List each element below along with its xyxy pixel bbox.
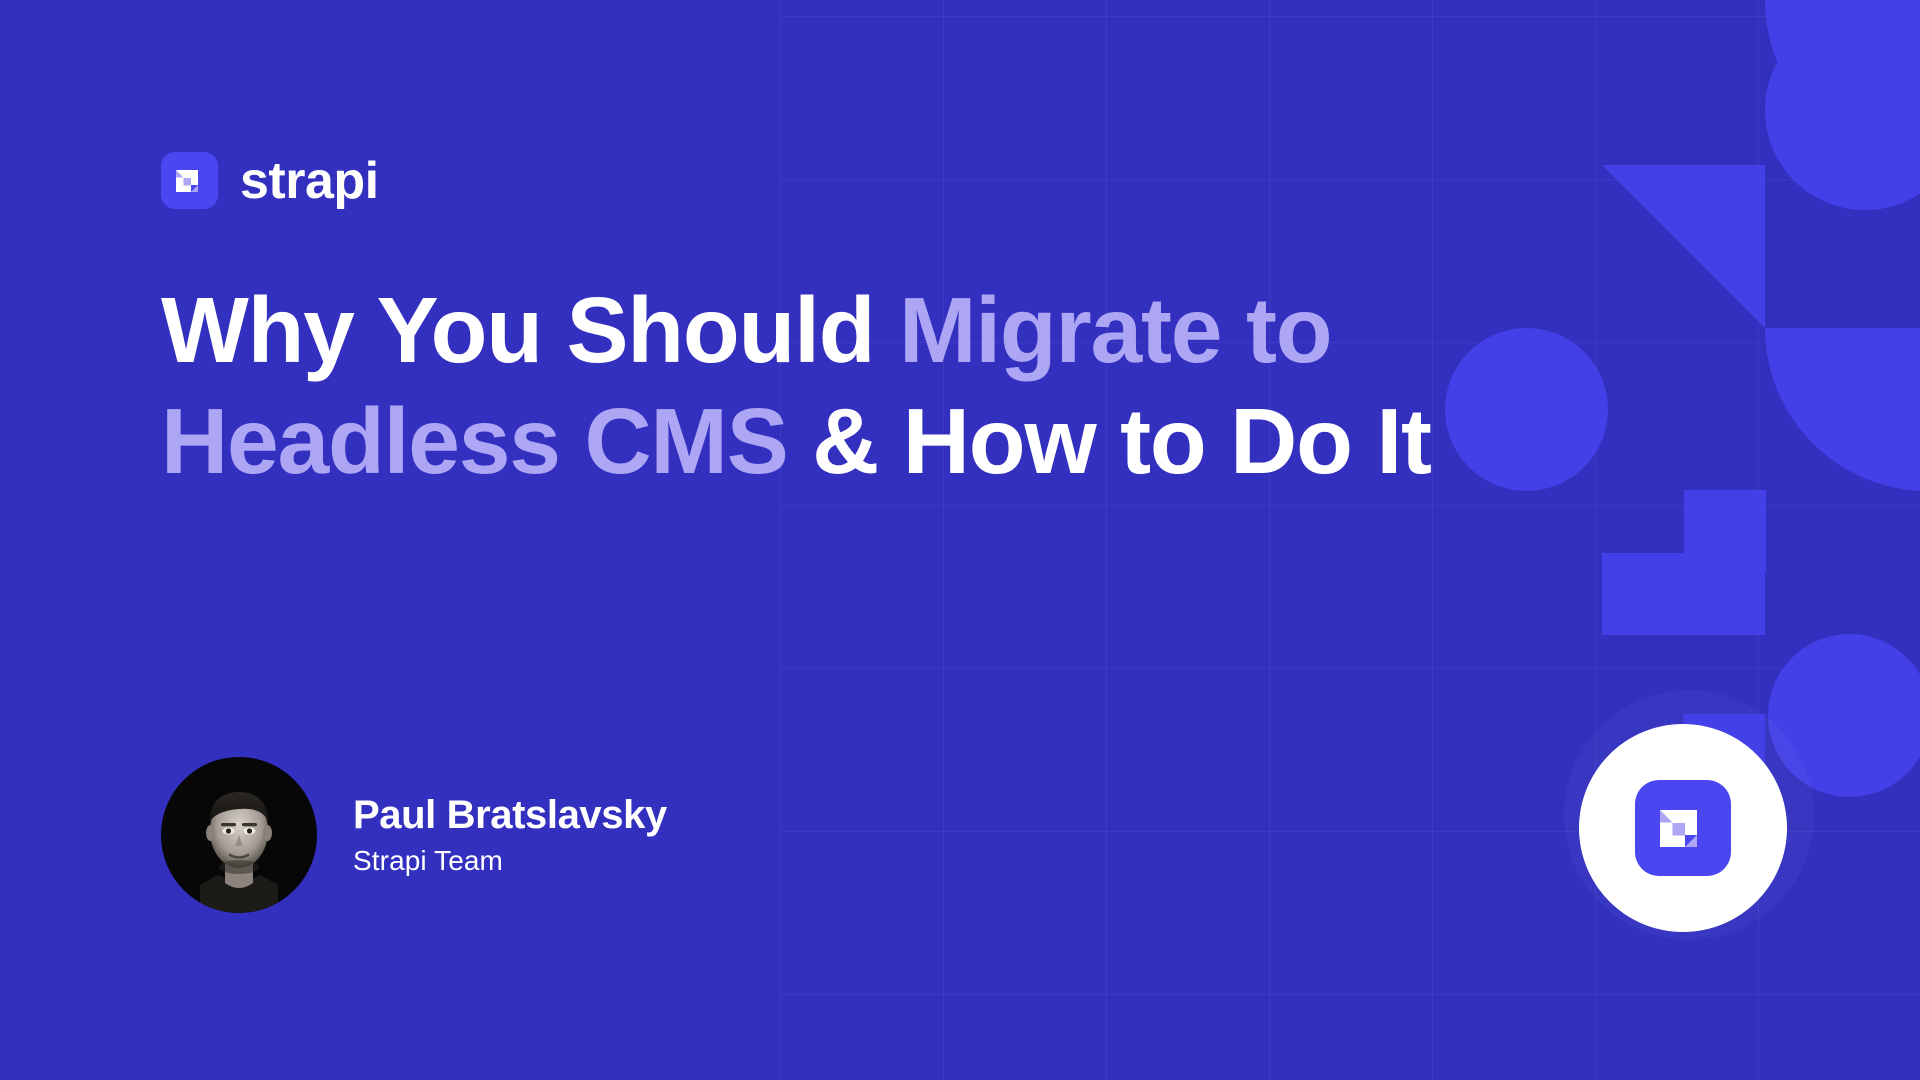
page-title: Why You Should Migrate to Headless CMS &… — [161, 275, 1461, 496]
strapi-logo-icon — [161, 152, 218, 209]
brand-lockup[interactable]: strapi — [161, 152, 379, 209]
author-role: Strapi Team — [353, 846, 667, 877]
avatar — [161, 757, 317, 913]
title-segment-white-2: & How to Do It — [788, 389, 1431, 493]
author-block: Paul Bratslavsky Strapi Team — [161, 757, 667, 913]
brand-wordmark: strapi — [240, 155, 379, 207]
cover-card: strapi Why You Should Migrate to Headles… — [0, 0, 1920, 1080]
strapi-badge — [1579, 724, 1787, 932]
author-text: Paul Bratslavsky Strapi Team — [353, 793, 667, 877]
author-name: Paul Bratslavsky — [353, 793, 667, 837]
strapi-logo-icon — [1635, 780, 1731, 876]
title-segment-white-1: Why You Should — [161, 278, 899, 382]
